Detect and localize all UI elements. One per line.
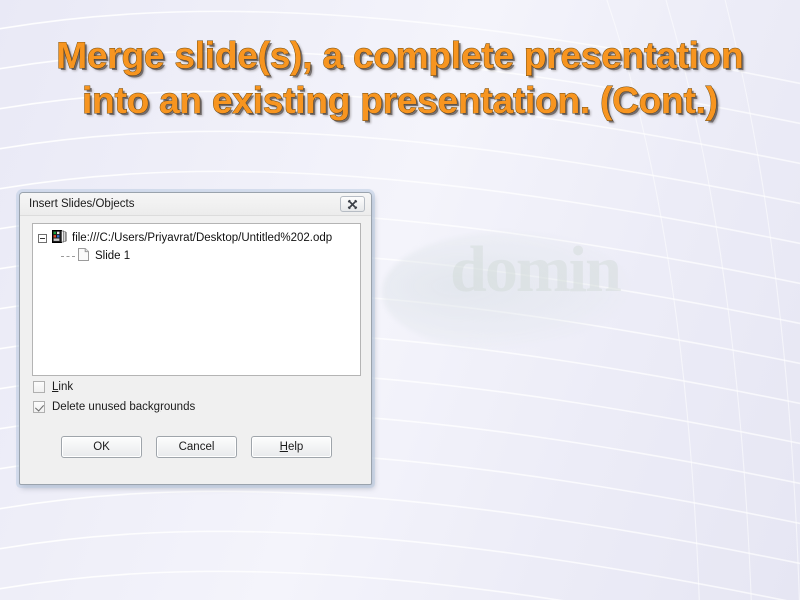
link-label-rest: ink: [58, 381, 73, 393]
presentation-file-icon: [52, 230, 67, 246]
dialog-button-row: OK Cancel Help: [20, 436, 373, 458]
delete-backgrounds-checkbox-row[interactable]: Delete unused backgrounds: [33, 401, 195, 413]
delete-label-rest: rounds: [160, 401, 195, 413]
slide-title: Merge slide(s), a complete presentation …: [0, 33, 800, 123]
tree-row[interactable]: Slide 1: [61, 248, 360, 264]
dialog-title: Insert Slides/Objects: [29, 198, 134, 210]
watermark-blob: [382, 232, 632, 352]
delete-label-pre: Delete unused back: [52, 401, 154, 413]
watermark-text: domin: [370, 232, 700, 308]
link-checkbox-label: Link: [52, 381, 73, 393]
help-mnemonic: H: [280, 441, 288, 453]
dialog-title-bar: Insert Slides/Objects: [20, 193, 371, 216]
slides-tree-list[interactable]: file:///C:/Users/Priyavrat/Desktop/Untit…: [32, 223, 361, 376]
tree-expander-collapse-icon[interactable]: [38, 234, 47, 243]
help-label-rest: elp: [288, 441, 303, 453]
tree-child-label: Slide 1: [95, 250, 130, 262]
link-checkbox-row[interactable]: Link: [33, 381, 73, 393]
link-checkbox[interactable]: [33, 381, 45, 393]
close-icon[interactable]: [340, 196, 365, 212]
slide-page-icon: [78, 248, 89, 264]
ok-button[interactable]: OK: [61, 436, 142, 458]
insert-slides-objects-dialog: Insert Slides/Objects: [19, 192, 372, 485]
delete-backgrounds-checkbox-label: Delete unused backgrounds: [52, 401, 195, 413]
delete-backgrounds-checkbox[interactable]: [33, 401, 45, 413]
cancel-button[interactable]: Cancel: [156, 436, 237, 458]
tree-row[interactable]: file:///C:/Users/Priyavrat/Desktop/Untit…: [38, 230, 360, 246]
tree-root-label: file:///C:/Users/Priyavrat/Desktop/Untit…: [72, 232, 332, 244]
help-button[interactable]: Help: [251, 436, 332, 458]
presentation-slide: domin Merge slide(s), a complete present…: [0, 0, 800, 600]
tree-connector-line: [61, 256, 75, 257]
